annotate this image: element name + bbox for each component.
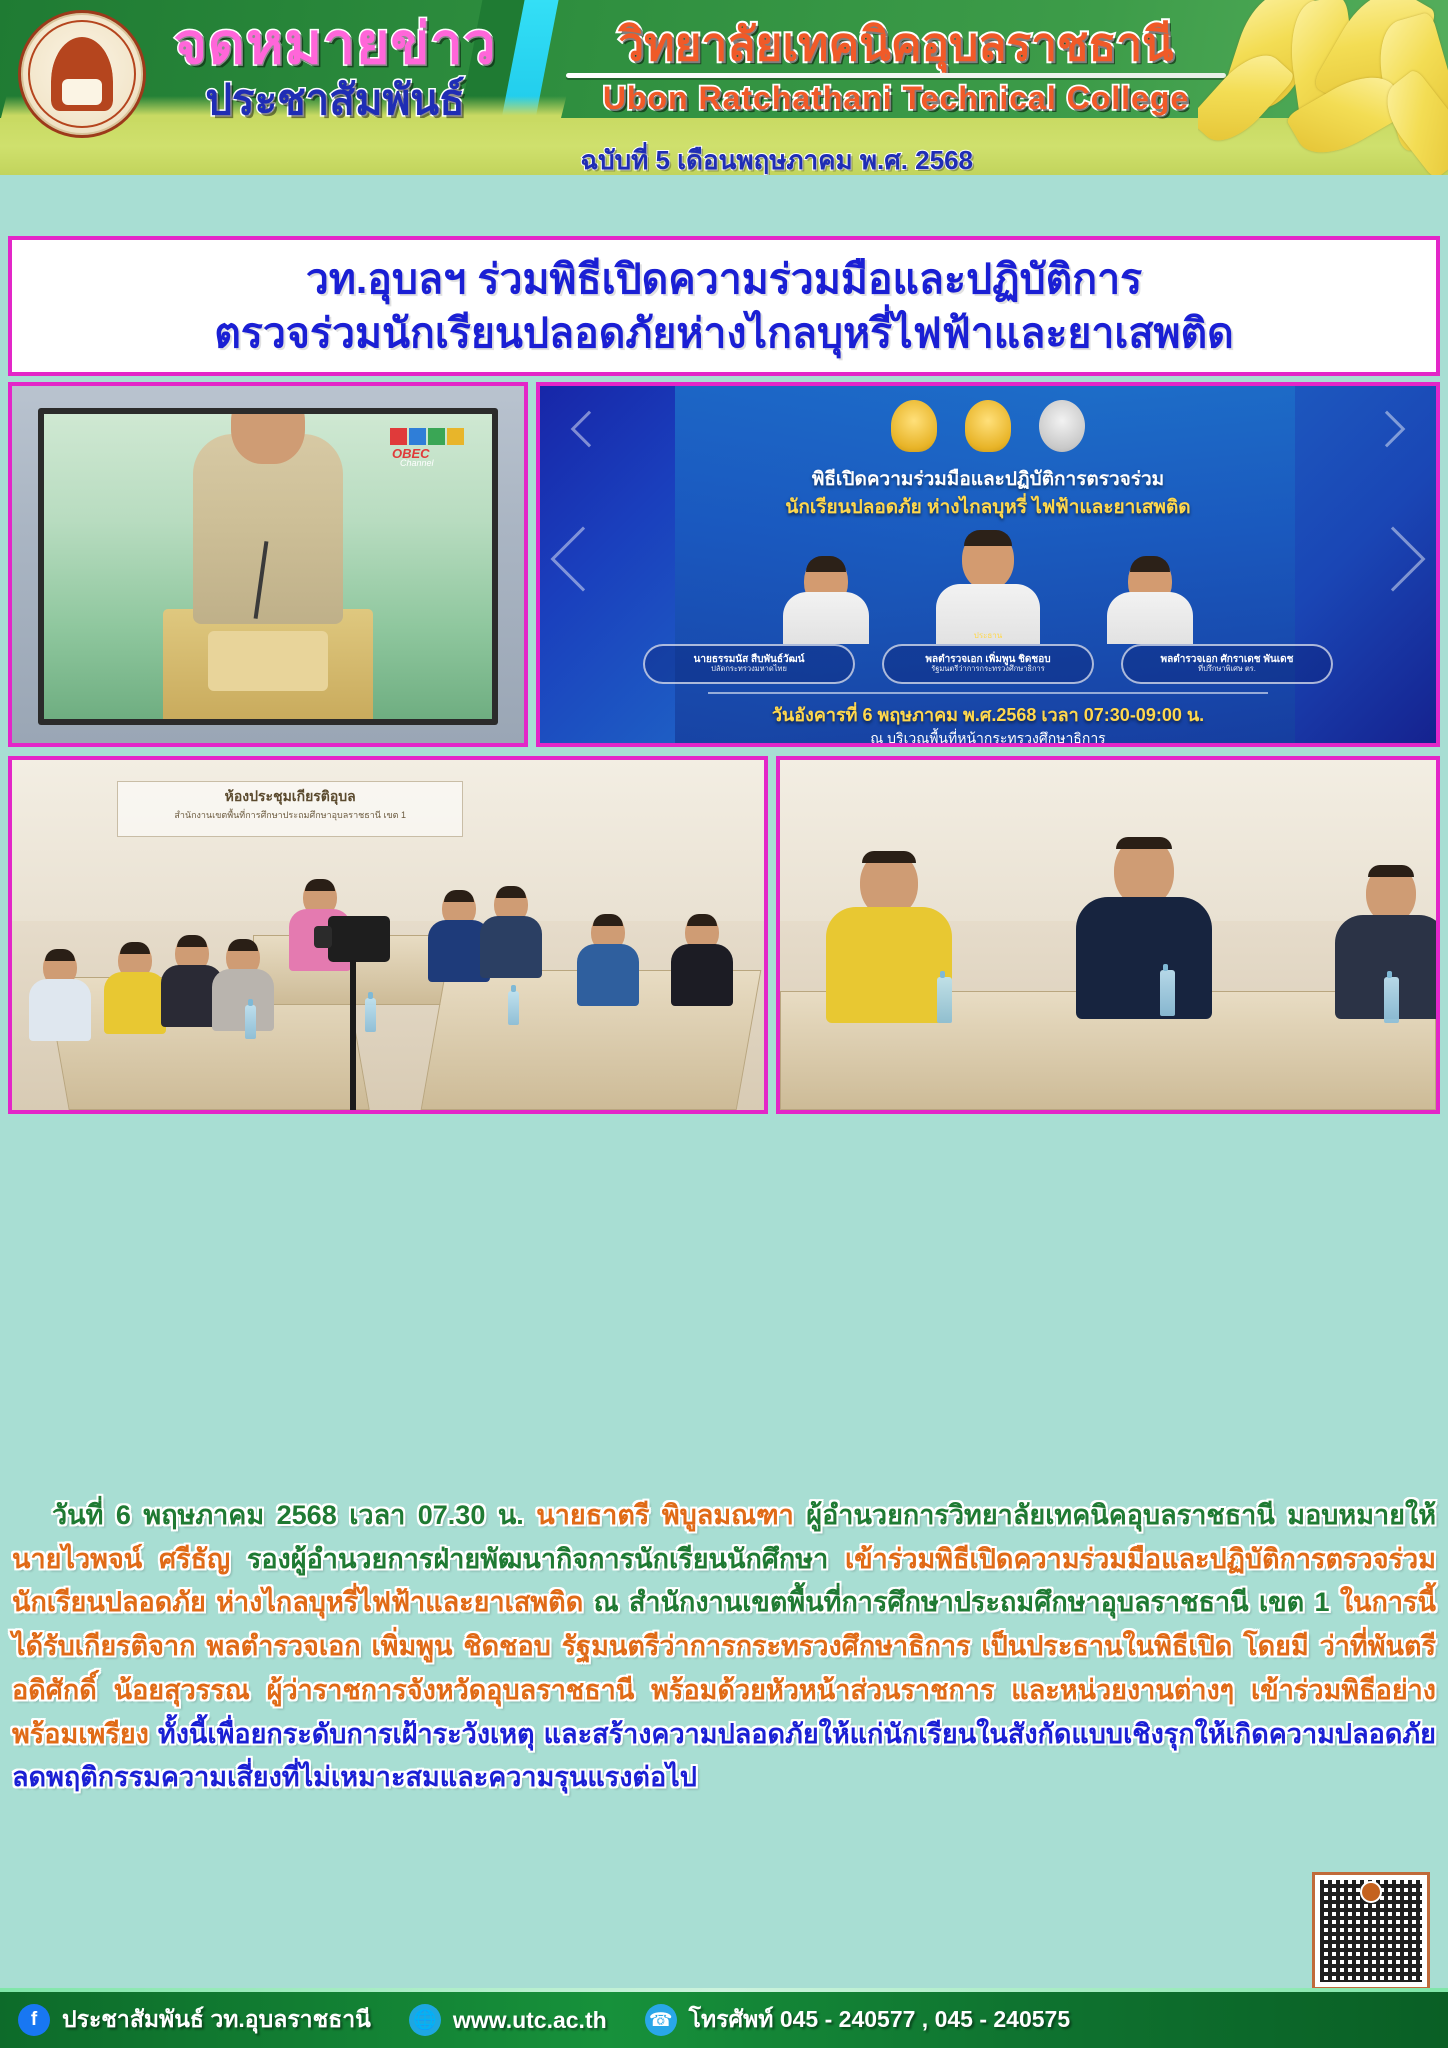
newsletter-line1: จดหมายข่าว (174, 16, 497, 73)
attendee-6 (478, 886, 544, 982)
tripod-stand (350, 960, 356, 1110)
poster-chair-label: ประธาน (974, 629, 1003, 642)
speaker-figure (193, 434, 343, 624)
attendee-7 (568, 914, 648, 1024)
body-segment-2: ผู้อำนวยการวิทยาลัยเทคนิคอุบลราชธานี มอบ… (806, 1500, 1436, 1530)
globe-icon[interactable]: 🌐 (409, 2004, 441, 2036)
role-right: ที่ปรึกษาพิเศษ ตร. (1198, 665, 1256, 673)
attendee-8-body (671, 944, 733, 1006)
qr-center-logo (1360, 1881, 1382, 1903)
page-header: จดหมายข่าว ประชาสัมพันธ์ วิทยาลัยเทคนิคอ… (0, 0, 1448, 175)
podium-shape (163, 609, 373, 719)
headline-box: วท.อุบลฯ ร่วมพิธีเปิดความร่วมมือและปฏิบั… (8, 236, 1440, 376)
portrait-center (922, 526, 1054, 644)
footer-facebook-label[interactable]: ประชาสัมพันธ์ วท.อุบลราชธานี (62, 2002, 371, 2038)
college-name-thai: วิทยาลัยเทคนิคอุบลราชธานี (618, 20, 1173, 68)
water-bottle-1 (245, 1005, 256, 1039)
photo-collage: OBEC Channel พิธีเปิดความร่วมมือและปฏิบั… (8, 382, 1440, 1482)
attendee-4 (208, 939, 278, 1039)
portrait-left-body (783, 592, 869, 644)
portrait-left (771, 552, 881, 644)
body-segment-6: ณ สำนักงานเขตพื้นที่การศึกษาประถมศึกษาอุ… (594, 1587, 1340, 1617)
right-water-bottle-1 (937, 977, 952, 1023)
right-water-bottle-3 (1384, 977, 1399, 1023)
photo-meeting-room: ห้องประชุมเกียรติอุบล สำนักงานเขตพื้นที่… (8, 756, 768, 1114)
role-left: ปลัดกระทรวงมหาดไทย (711, 665, 787, 673)
attendee-7-body (577, 944, 639, 1006)
obec-watermark: OBEC Channel (390, 428, 474, 466)
name-pill-center: พลตำรวจเอก เพิ่มพูน ชิดชอบ รัฐมนตรีว่ากา… (882, 644, 1094, 684)
headline-line2: ตรวจร่วมนักเรียนปลอดภัยห่างไกลบุหรี่ไฟฟ้… (214, 306, 1234, 360)
police-emblem-icon (1039, 400, 1085, 452)
attendee-1-body (29, 979, 91, 1041)
poster-portraits (743, 524, 1233, 644)
poster-title-line2: นักเรียนปลอดภัย ห่างไกลบุหรี่ ไฟฟ้าและยา… (540, 492, 1436, 522)
portrait-center-head (962, 530, 1014, 590)
right-water-bottle-2 (1160, 970, 1175, 1016)
flower-decoration (1198, 0, 1448, 175)
water-bottle-2 (365, 998, 376, 1032)
article-body: วันที่ 6 พฤษภาคม 2568 เวลา 07.30 น. นายธ… (12, 1494, 1436, 1800)
phone-icon[interactable]: ☎ (645, 2004, 677, 2036)
college-name-english: Ubon Ratchathani Technical College (603, 82, 1189, 116)
newsletter-wordmark: จดหมายข่าว ประชาสัมพันธ์ (150, 6, 520, 134)
poster-place: ณ บริเวณพื้นที่หน้ากระทรวงศึกษาธิการ (540, 728, 1436, 747)
attendee-1 (20, 949, 100, 1059)
name-pill-left: นายธรรมนัส สืบพันธ์วัฒน์ ปลัดกระทรวงมหาด… (643, 644, 855, 684)
poster-title-line1: พิธีเปิดความร่วมมือและปฏิบัติการตรวจร่วม (540, 464, 1436, 494)
ministry-emblem-icon (965, 400, 1011, 452)
portrait-right-body (1107, 592, 1193, 644)
photo-attendees-right (776, 756, 1440, 1114)
qr-code[interactable] (1312, 1872, 1430, 1990)
newsletter-line2: ประชาสัมพันธ์ (205, 77, 464, 123)
attendee-4-body (212, 969, 274, 1031)
speaker-head (231, 414, 305, 464)
body-segment-1: นายธาตรี พิบูลมณฑา (536, 1500, 806, 1530)
obec-watermark-sub: Channel (400, 458, 434, 468)
right-attendee-2 (1069, 837, 1219, 1037)
photo-projector-screen: OBEC Channel (8, 382, 528, 747)
institution-seal-icon (18, 10, 146, 138)
water-bottle-3 (508, 991, 519, 1025)
right-attendee-2-body (1076, 897, 1212, 1019)
footer-phone-label: โทรศัพท์ 045 - 240577 , 045 - 240575 (689, 2002, 1070, 2038)
header-rule (566, 73, 1226, 78)
photo-event-poster: พิธีเปิดความร่วมมือและปฏิบัติการตรวจร่วม… (536, 382, 1440, 747)
portrait-right (1095, 552, 1205, 644)
body-segment-9: ทั้งนี้เพื่อยกระดับการเฝ้าระวังเหตุ และส… (12, 1719, 1436, 1793)
body-segment-3: นายไวพจน์ ศรีธัญ (12, 1544, 247, 1574)
issue-line: ฉบับที่ 5 เดือนพฤษภาคม พ.ศ. 2568 (580, 140, 973, 175)
poster-name-pills: นายธรรมนัส สืบพันธ์วัฒน์ ปลัดกระทรวงมหาด… (643, 644, 1333, 684)
name-pill-right: พลตำรวจเอก ศักราเดช พันเดช ที่ปรึกษาพิเศ… (1121, 644, 1333, 684)
screen-content: OBEC Channel (44, 414, 492, 719)
attendee-8 (659, 914, 745, 1030)
poster-date: วันอังคารที่ 6 พฤษภาคม พ.ศ.2568 เวลา 07:… (540, 700, 1436, 729)
body-segment-4: รองผู้อำนวยการฝ่ายพัฒนากิจการนักเรียนนัก… (247, 1544, 845, 1574)
body-segment-0: วันที่ 6 พฤษภาคม 2568 เวลา 07.30 น. (52, 1500, 536, 1530)
meeting-banner-line2: สำนักงานเขตพื้นที่การศึกษาประถมศึกษาอุบล… (118, 808, 462, 822)
video-camera-icon (328, 916, 390, 962)
facebook-icon[interactable]: f (18, 2004, 50, 2036)
poster-emblems (891, 400, 1085, 452)
role-center: รัฐมนตรีว่าการกระทรวงศึกษาธิการ (931, 665, 1045, 673)
poster-divider (708, 692, 1268, 694)
footer-website-label[interactable]: www.utc.ac.th (453, 2007, 607, 2034)
seal-text-ring (21, 13, 143, 135)
garuda-emblem-icon (891, 400, 937, 452)
meeting-room-banner: ห้องประชุมเกียรติอุบล สำนักงานเขตพื้นที่… (117, 781, 463, 837)
screen-frame: OBEC Channel (38, 408, 498, 725)
page-footer: f ประชาสัมพันธ์ วท.อุบลราชธานี 🌐 www.utc… (0, 1992, 1448, 2048)
newsletter-page: จดหมายข่าว ประชาสัมพันธ์ วิทยาลัยเทคนิคอ… (0, 0, 1448, 2048)
right-attendee-1-body (826, 907, 952, 1023)
headline-line1: วท.อุบลฯ ร่วมพิธีเปิดความร่วมมือและปฏิบั… (306, 252, 1142, 306)
college-wordmark: วิทยาลัยเทคนิคอุบลราชธานี Ubon Ratchatha… (556, 8, 1236, 128)
attendee-6-body (480, 916, 542, 978)
meeting-banner-line1: ห้องประชุมเกียรติอุบล (118, 786, 462, 808)
